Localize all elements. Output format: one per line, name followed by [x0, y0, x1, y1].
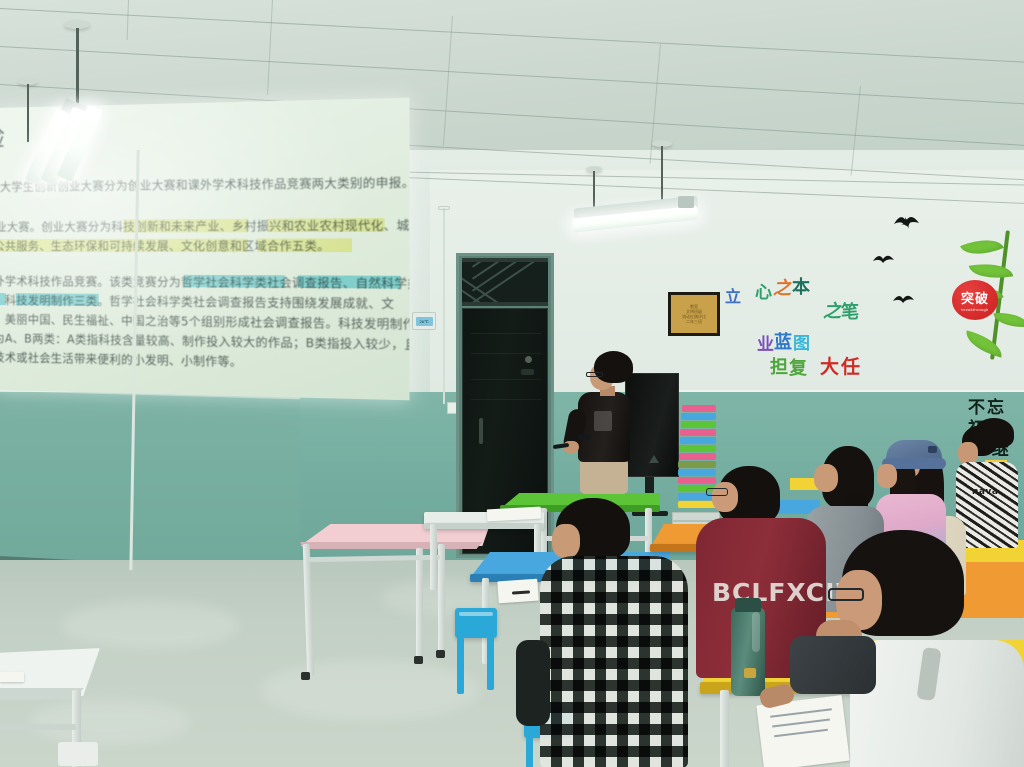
slide-highlight-cyan	[0, 293, 6, 305]
slide-line: 对技术或社会生活带来便利的小发明、小制作等。	[0, 348, 242, 372]
wall-char-zhi2: 之	[823, 297, 841, 323]
slide-highlight-cyan	[16, 293, 99, 306]
slide-highlight-cyan	[298, 275, 401, 288]
wall-char-zhi: 之	[773, 274, 791, 300]
presenter-shirt-print	[594, 411, 612, 431]
wall-char-tu: 图	[793, 329, 810, 354]
badge-text: 突破	[961, 288, 989, 307]
classroom-plaque: 教室文明班级流动红旗评比二年三班	[668, 292, 720, 336]
ac-control-panel[interactable]: 26℃	[412, 312, 436, 330]
student-maroon-face	[712, 482, 738, 512]
stool-blue[interactable]	[455, 608, 497, 638]
student-back-hair	[974, 418, 1014, 448]
wall-char-ren: 任	[841, 352, 860, 379]
desk-leg	[430, 524, 437, 590]
student-plaid-arm	[516, 640, 550, 726]
plaque-text: 教室文明班级流动红旗评比二年三班	[682, 304, 706, 324]
wall-seam	[660, 390, 1024, 392]
badge-subtext: breakthrough	[961, 307, 988, 312]
wall-char-xin: 心	[755, 278, 772, 303]
door-lock[interactable]	[521, 369, 534, 375]
student-pattern-face	[958, 442, 978, 464]
floor-object	[58, 742, 98, 766]
student-hat-face	[877, 464, 897, 488]
slide-highlight-yellow	[0, 239, 248, 253]
slide-highlight-yellow	[258, 238, 352, 252]
conduit-anchor	[438, 206, 450, 210]
badge-breakthrough: 突破 breakthrough	[952, 280, 998, 320]
wall-char-ye: 业	[757, 330, 774, 355]
wall-char-ben: 本	[792, 273, 810, 299]
student-plaid-face	[552, 524, 580, 558]
ac-display: 26℃	[416, 317, 433, 326]
presenter-hair	[594, 351, 633, 383]
bird-icon	[892, 290, 916, 308]
desk-foot	[414, 656, 423, 664]
wall-char-fu: 复	[789, 354, 807, 380]
presenter-wristband	[578, 434, 591, 440]
glasses-icon	[706, 488, 728, 496]
desk-foot	[301, 672, 310, 680]
bottle-cap	[735, 598, 761, 612]
backpack	[790, 636, 876, 694]
student-gray-face	[814, 464, 838, 492]
wall-char-lan: 蓝	[774, 328, 792, 354]
wall-char-bi: 笔	[841, 298, 859, 324]
hat-badge	[928, 446, 937, 453]
glasses-icon	[828, 588, 864, 601]
desk-foot	[436, 650, 445, 658]
student-plaid-torso	[540, 556, 688, 767]
bottle-logo-icon	[744, 668, 756, 678]
door-transom-grille	[462, 258, 548, 306]
bottle-highlight	[752, 612, 760, 652]
desk-leg	[416, 548, 423, 660]
paper-sheet	[0, 672, 24, 682]
door-peephole-icon	[525, 356, 532, 363]
slide-highlight-yellow	[123, 219, 248, 233]
bird-icon	[872, 250, 896, 268]
wall-char-li: 立	[725, 283, 741, 307]
wall-char-dan: 担	[770, 353, 788, 379]
slide-title: 验	[0, 118, 7, 155]
classroom-scene: 验 大学生创新创业大赛分为创业大赛和课外学术科技作品竞赛两大类别的申报。 创业大…	[0, 0, 1024, 767]
desk-leg	[720, 690, 729, 767]
wall-conduit	[443, 208, 445, 404]
jacket-text: nava	[972, 487, 998, 497]
wall-char-da: 大	[820, 352, 839, 379]
desk-leg	[438, 544, 445, 652]
bird-icon	[892, 210, 922, 232]
door-handle[interactable]	[479, 418, 483, 444]
glasses-icon	[586, 372, 603, 377]
slide-highlight-cyan	[184, 275, 285, 288]
slide-highlight-yellow	[267, 218, 384, 232]
presenter-legs	[580, 458, 628, 494]
display-logo-icon	[649, 455, 659, 463]
desk-rail	[0, 724, 76, 730]
